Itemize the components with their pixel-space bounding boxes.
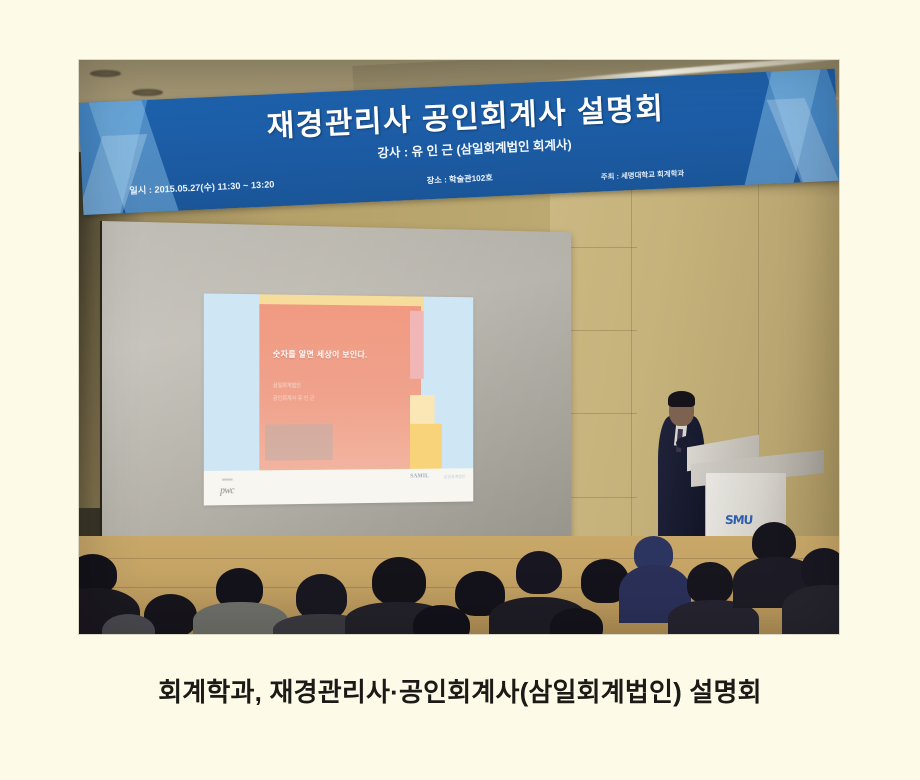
slide-shadow-block [264,424,332,460]
photo-caption: 회계학과, 재경관리사·공인회계사(삼일회계법인) 설명회 [0,672,920,709]
photo-frame: 재경관리사 공인회계사 설명회 강사 : 유 인 근 (삼일회계법인 회계사) … [79,60,839,634]
pwc-mark-icon [222,478,233,480]
projection-screen: 숫자를 알면 세상이 보인다. 삼일회계법인 공인회계사 유 인 근 pwc S… [102,221,571,574]
slide-accent-yellow-mid [410,395,434,428]
audience-head [372,557,427,606]
slide-footer: pwc SAMIL 삼일회계법인 [203,468,473,505]
banner-host: 주최 : 세명대학교 회계학과 [600,167,684,182]
slide-subline-presenter: 공인회계사 유 인 근 [273,394,315,402]
lecture-hall-photo: 재경관리사 공인회계사 설명회 강사 : 유 인 근 (삼일회계법인 회계사) … [79,60,839,634]
audience-head [801,548,839,590]
page-root: 재경관리사 공인회계사 설명회 강사 : 유 인 근 (삼일회계법인 회계사) … [0,0,920,780]
pwc-logo: pwc [220,485,234,496]
slide-subline-company: 삼일회계법인 [273,381,301,389]
slide-accent-yellow-low [410,424,442,469]
slide-headline: 숫자를 알면 세상이 보인다. [273,347,368,359]
speaker-hair [668,391,695,408]
recessed-light-icon [132,89,162,96]
presentation-slide: 숫자를 알면 세상이 보인다. 삼일회계법인 공인회계사 유 인 근 pwc S… [203,293,473,505]
audience-head [516,551,562,594]
samil-logo-sub: 삼일회계법인 [444,474,466,480]
audience-head [296,574,348,620]
floor-seam [79,558,839,559]
banner-venue: 장소 : 학술관102호 [426,172,493,187]
podium-logo: SMU [725,513,753,527]
slide-accent-pink [410,310,423,378]
samil-logo: SAMIL [410,473,429,479]
audience-head [687,562,733,603]
